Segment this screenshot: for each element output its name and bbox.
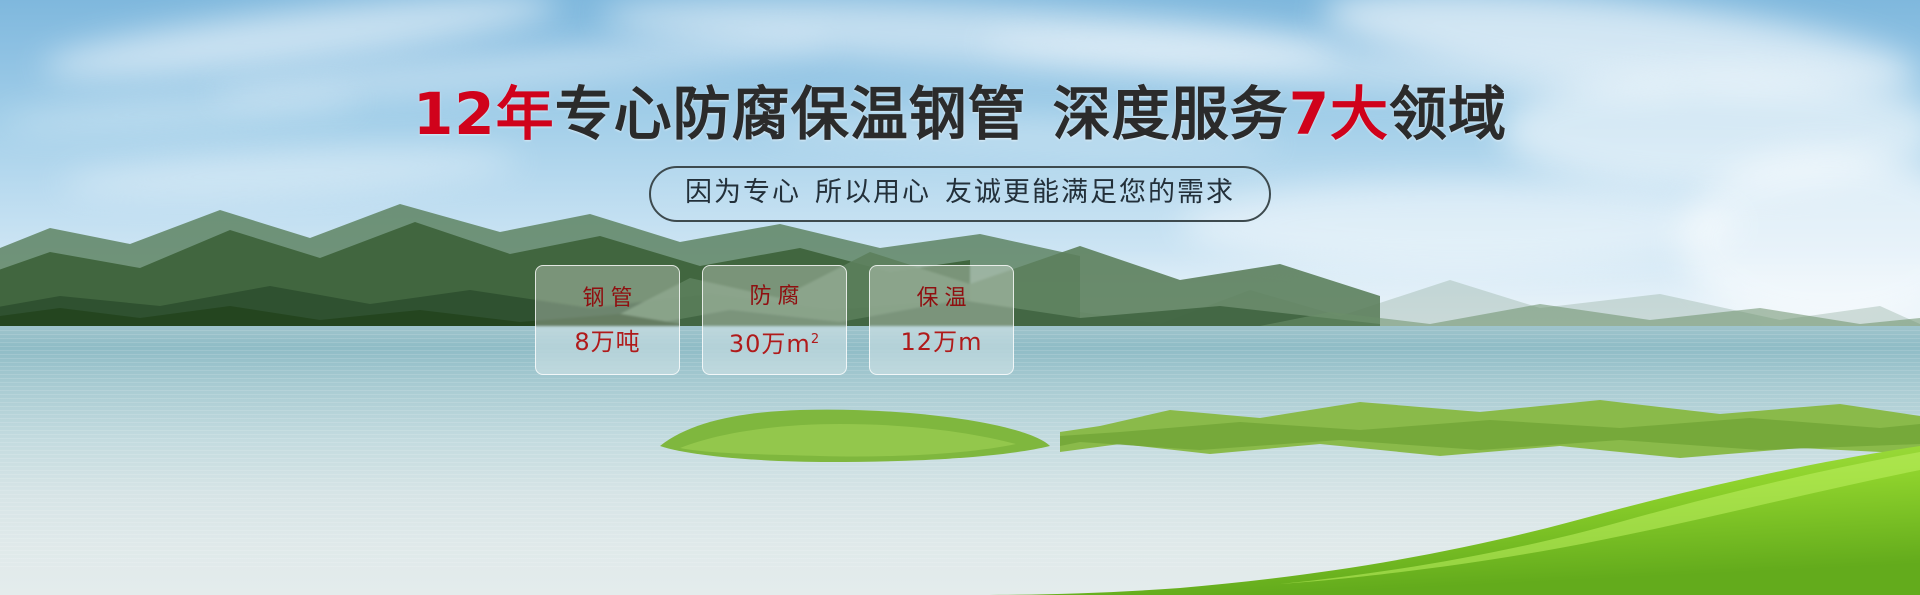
headline-main-text: 专心防腐保温钢管 bbox=[555, 80, 1027, 148]
subtitle-phrase-3: 友诚更能满足您的需求 bbox=[945, 177, 1235, 208]
headline-fields-count: 7大 bbox=[1289, 80, 1389, 148]
stat-card-value-superscript: 2 bbox=[811, 332, 820, 347]
promo-banner: 12年专心防腐保温钢管深度服务7大领域 因为专心所以用心友诚更能满足您的需求 钢… bbox=[0, 0, 1920, 595]
stat-card-insulation[interactable]: 保温 12万m bbox=[869, 265, 1014, 375]
stat-card-title: 钢管 bbox=[576, 284, 638, 314]
stat-card-value-text: 30万m bbox=[729, 330, 811, 358]
stat-card-title: 防腐 bbox=[743, 282, 805, 312]
subtitle-phrase-2: 所以用心 bbox=[815, 177, 931, 208]
headline-service-text: 深度服务 bbox=[1053, 80, 1289, 148]
subtitle-phrase-1: 因为专心 bbox=[685, 177, 801, 208]
stat-card-value: 12万m bbox=[901, 328, 983, 356]
headline-years-badge: 12年 bbox=[413, 80, 555, 148]
banner-subtitle-wrap: 因为专心所以用心友诚更能满足您的需求 bbox=[0, 166, 1920, 222]
headline-fields-text: 领域 bbox=[1389, 80, 1507, 148]
stat-card-anticorrosion[interactable]: 防腐 30万m2 bbox=[702, 265, 847, 375]
foreground-grass bbox=[980, 430, 1920, 595]
stat-card-value: 8万吨 bbox=[574, 328, 640, 356]
stat-card-group: 钢管 8万吨 防腐 30万m2 保温 12万m bbox=[535, 265, 1014, 375]
banner-subtitle-pill: 因为专心所以用心友诚更能满足您的需求 bbox=[649, 166, 1271, 222]
stat-card-value-text: 8万吨 bbox=[574, 328, 640, 356]
banner-headline: 12年专心防腐保温钢管深度服务7大领域 bbox=[0, 82, 1920, 146]
stat-card-title: 保温 bbox=[910, 284, 972, 314]
stat-card-value-text: 12万m bbox=[901, 328, 983, 356]
stat-card-value: 30万m2 bbox=[729, 326, 820, 358]
stat-card-steel-pipe[interactable]: 钢管 8万吨 bbox=[535, 265, 680, 375]
